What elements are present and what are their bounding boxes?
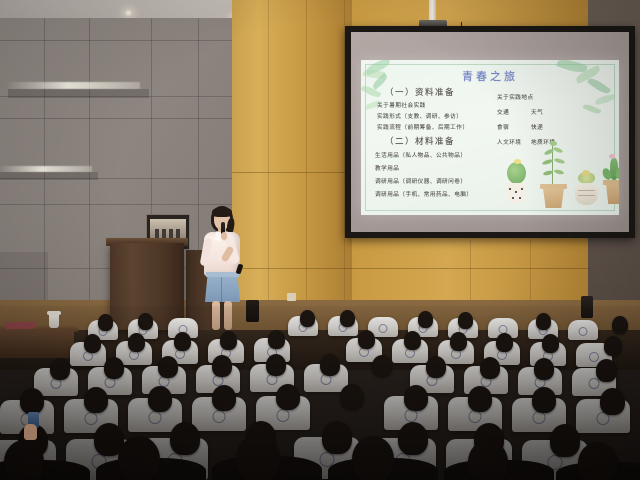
slide-section-heading-1: （一）资料准备 [385, 86, 455, 98]
plant-round-cactus [501, 158, 531, 210]
audience-head [268, 330, 285, 349]
audience-head [450, 332, 467, 351]
speaker-skirt-seam [221, 277, 222, 302]
downlight-icon [124, 10, 133, 16]
slide-bullet: 关于暑期社会实践 [377, 101, 426, 109]
audience-head [468, 386, 492, 412]
audience-head [220, 331, 237, 350]
slide-title: 青春之旅 [361, 68, 619, 84]
panel-shadow [0, 172, 98, 180]
audience-head [340, 384, 364, 410]
wall-outlet [287, 293, 296, 301]
audience-head [128, 333, 145, 352]
audience-head [426, 356, 446, 378]
audience-head [596, 359, 617, 382]
slide-section-heading-2: （二）材料准备 [385, 135, 455, 147]
audience-head [212, 355, 232, 377]
slide-right-item: 食宿 [497, 123, 509, 131]
projection-screen: 青春之旅 （一）资料准备 关于暑期社会实践 实践形式（支教、调研、参访） 实践流… [345, 26, 635, 238]
audience-head [212, 385, 236, 411]
slide-right-item: 天气 [531, 108, 543, 116]
audience-head [174, 332, 191, 351]
slide-bullet: 实践形式（支教、调研、参访） [377, 112, 462, 120]
audience-head [266, 354, 286, 376]
audience-head [536, 313, 551, 330]
audience-head [600, 388, 625, 415]
audience-head [480, 357, 500, 379]
audience-head [468, 440, 508, 480]
audience-head [550, 424, 580, 457]
audience-head [158, 356, 178, 378]
plant-leafy-sapling [537, 140, 569, 210]
projection-screen-surface: 青春之旅 （一）资料准备 关于暑期社会实践 实践形式（支教、调研、参访） 实践流… [351, 32, 629, 232]
audience-head [320, 354, 340, 376]
audience-head [458, 312, 473, 329]
plant-prickly-pear-cactus [601, 152, 619, 210]
audience-head [352, 436, 394, 480]
slide-right-item: 交通 [497, 108, 509, 116]
slide-bullet: 调研用品（手机、常用药品、电脑） [375, 190, 473, 198]
slide-right-heading: 关于实践地点 [497, 93, 534, 101]
speaker-hand [221, 232, 227, 240]
audience-head [104, 357, 124, 379]
panel-shadow [8, 89, 149, 98]
wood-wall-left [232, 0, 352, 340]
audience-head [84, 334, 101, 353]
audience-head [404, 331, 421, 350]
audience-head [118, 436, 160, 480]
audience-head [4, 440, 44, 480]
audience-head [372, 355, 392, 377]
audience-head [604, 336, 622, 356]
audience-head [340, 310, 355, 327]
slide-bullet: 生活用品（私人物品、公共物品） [375, 151, 466, 159]
wall-light-strip [8, 82, 140, 89]
presentation-slide: 青春之旅 （一）资料准备 关于暑期社会实践 实践形式（支教、调研、参访） 实践流… [361, 60, 619, 215]
audience-head [50, 358, 70, 380]
audience-head [322, 421, 352, 454]
audience-head [236, 434, 280, 480]
slide-right-item: 快递 [531, 123, 543, 131]
audience-head [398, 422, 428, 455]
audience-head [170, 422, 200, 455]
audience-head [20, 388, 44, 414]
speaker-hair-front [212, 207, 232, 217]
auditorium-photo: 青春之旅 （一）资料准备 关于暑期社会实践 实践形式（支教、调研、参访） 实践流… [0, 0, 640, 480]
audience-head [148, 386, 172, 412]
panel-shadow [0, 252, 48, 304]
audience-head [578, 442, 618, 480]
raised-hand [24, 424, 37, 440]
audience-head [404, 385, 428, 411]
projector-mount-pole [429, 0, 436, 22]
speaker-skirt-waistband [206, 272, 239, 277]
audience-head [534, 358, 554, 380]
audience-head [542, 334, 559, 353]
slide-bullet: 教学用品 [375, 164, 399, 172]
audience-head [612, 316, 628, 334]
audience-seating [0, 306, 640, 480]
audience-head [532, 387, 556, 413]
audience-head [418, 311, 433, 328]
audience-head [358, 330, 375, 349]
audience-head [496, 333, 513, 352]
audience-head [98, 314, 113, 331]
audience-head [84, 387, 108, 413]
wall-picture-image [150, 219, 186, 240]
slide-right-item: 人文环境 [497, 138, 521, 146]
slide-bullet: 调研用品（调研仪器、调研问卷） [375, 177, 466, 185]
slide-bullet: 实践流程（前期筹备、后期工作） [377, 123, 468, 131]
audience-head [138, 313, 153, 330]
audience-head [276, 384, 300, 410]
plant-succulent [571, 172, 601, 210]
audience-head [300, 310, 315, 327]
